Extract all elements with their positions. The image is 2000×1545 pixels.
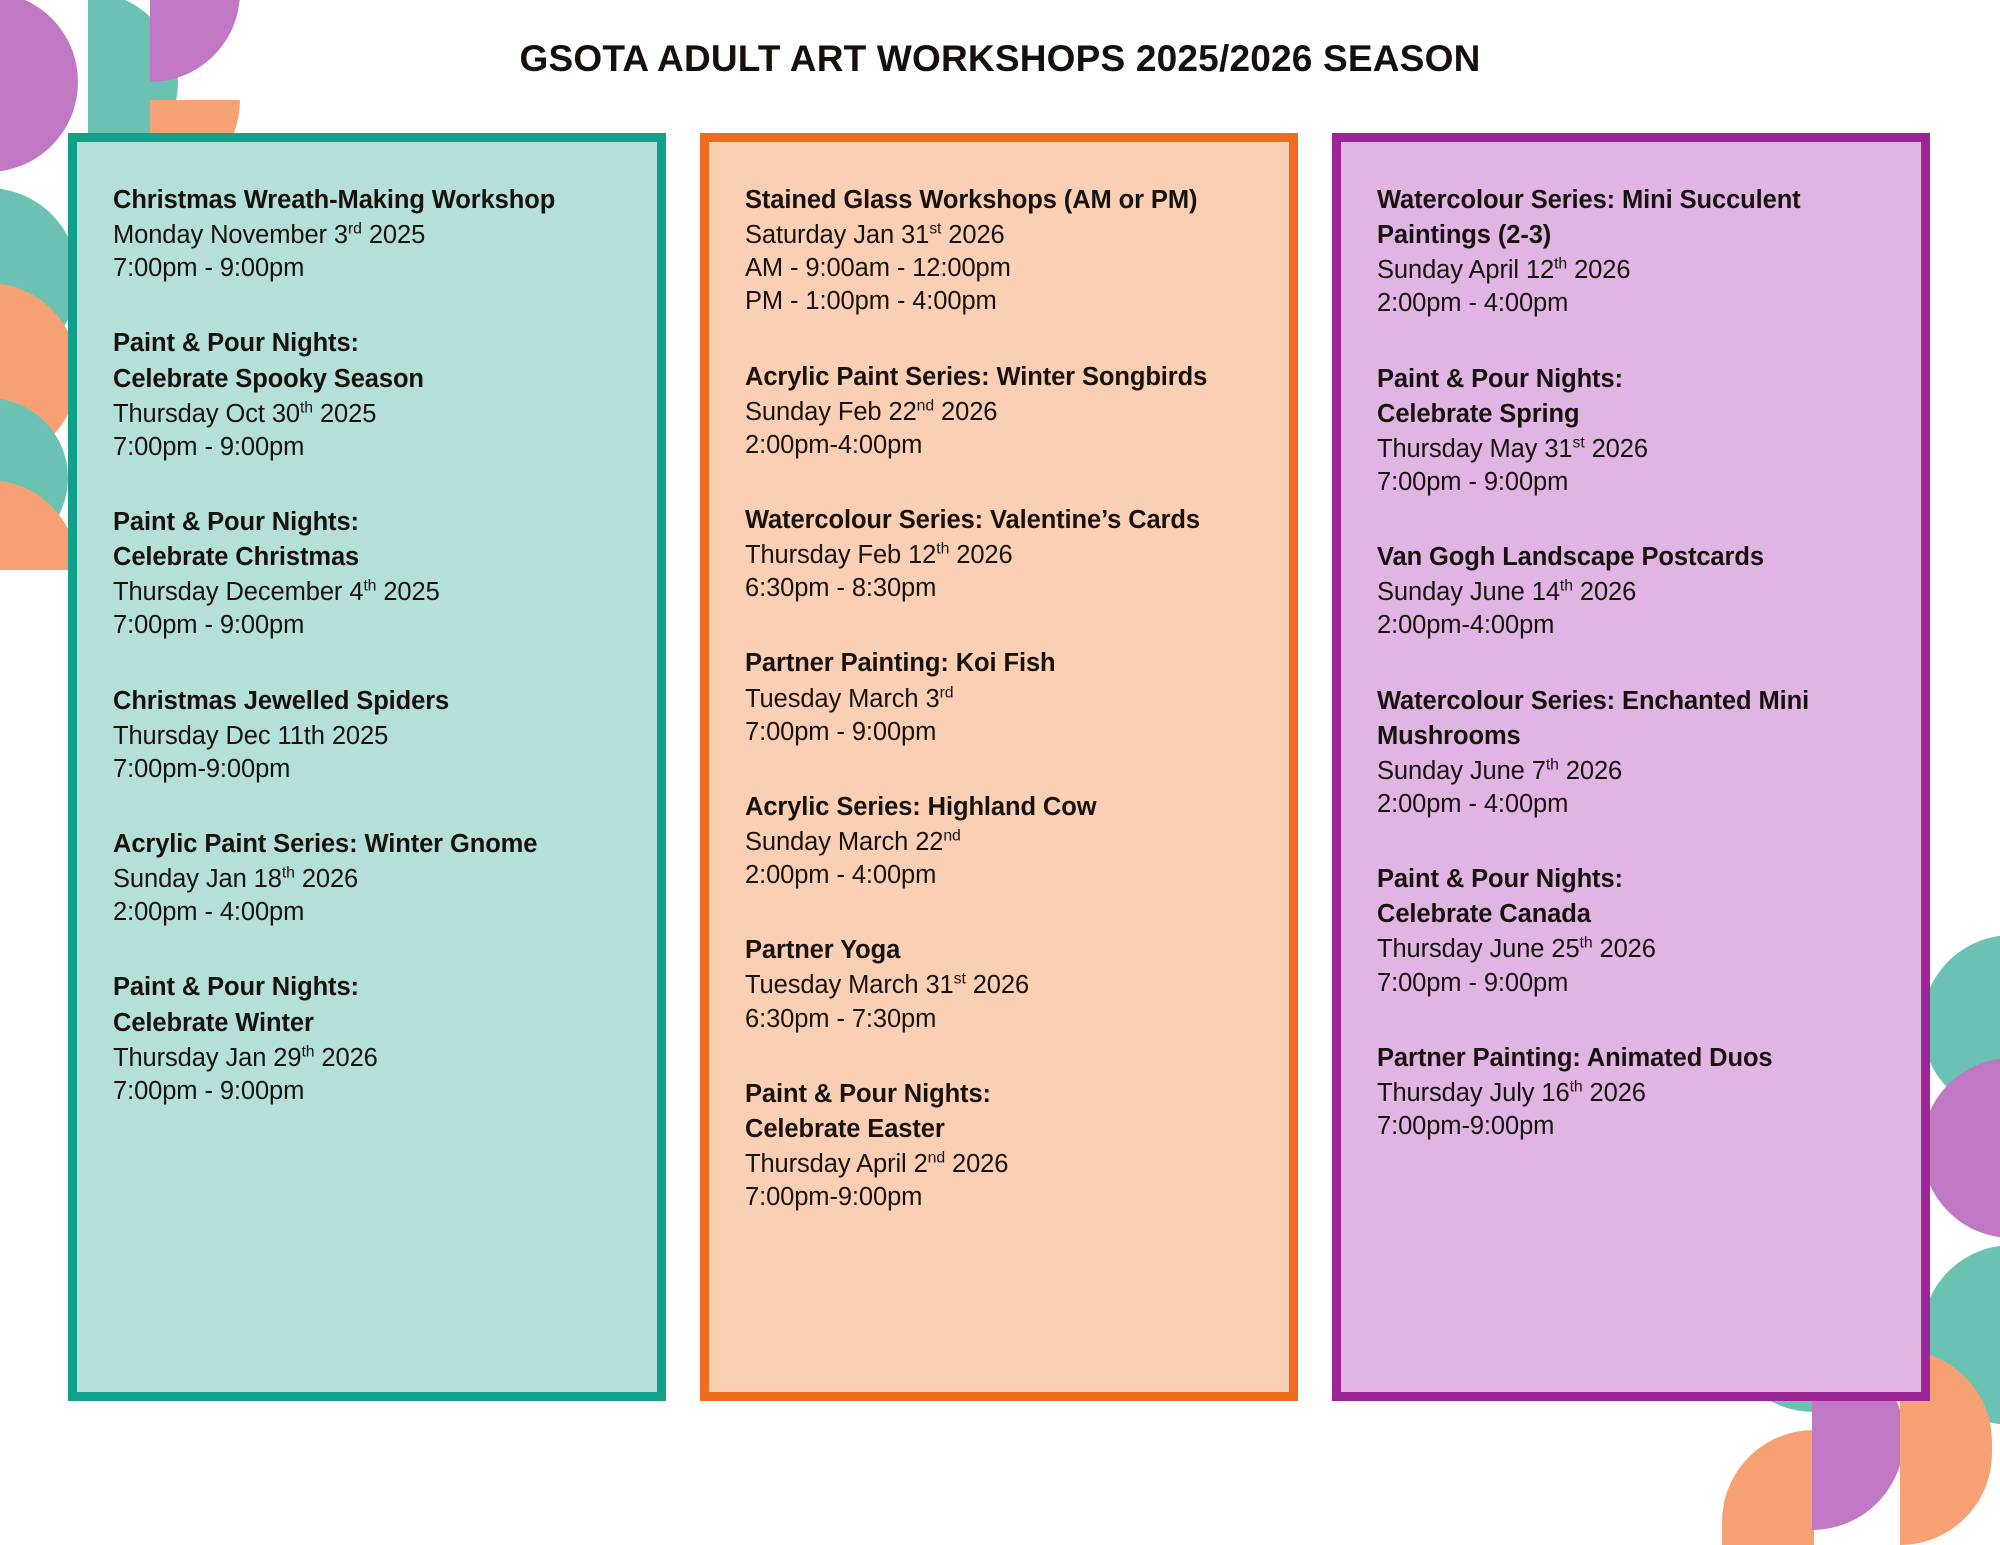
workshop-title: Van Gogh Landscape Postcards xyxy=(1377,541,1891,574)
deco-quarter-circle-peach xyxy=(0,480,78,570)
workshop-title: Paint & Pour Nights: xyxy=(113,971,627,1004)
workshop-entry: Paint & Pour Nights:Celebrate ChristmasT… xyxy=(113,506,627,643)
workshop-entry: Paint & Pour Nights:Celebrate WinterThur… xyxy=(113,971,627,1108)
workshop-time: PM - 1:00pm - 4:00pm xyxy=(745,285,1259,318)
date-ordinal-suffix: st xyxy=(1573,434,1585,451)
workshop-time: 7:00pm-9:00pm xyxy=(745,1181,1259,1214)
workshop-entry: Paint & Pour Nights:Celebrate CanadaThur… xyxy=(1377,863,1891,1000)
workshop-title: Partner Painting: Animated Duos xyxy=(1377,1042,1891,1075)
workshop-time: 2:00pm - 4:00pm xyxy=(113,896,627,929)
workshop-title: Acrylic Series: Highland Cow xyxy=(745,791,1259,824)
column-orange: Stained Glass Workshops (AM or PM)Saturd… xyxy=(700,133,1298,1401)
date-ordinal-suffix: th xyxy=(300,399,313,416)
workshop-title: Watercolour Series: Enchanted Mini xyxy=(1377,685,1891,718)
workshop-title: Partner Yoga xyxy=(745,934,1259,967)
workshop-time: 7:00pm - 9:00pm xyxy=(113,1075,627,1108)
workshop-entry: Partner Painting: Animated DuosThursday … xyxy=(1377,1042,1891,1143)
date-ordinal-suffix: rd xyxy=(940,684,954,701)
workshop-title: Watercolour Series: Mini Succulent xyxy=(1377,184,1891,217)
workshop-date: Thursday December 4th 2025 xyxy=(113,576,627,609)
workshop-entry: Paint & Pour Nights:Celebrate EasterThur… xyxy=(745,1078,1259,1215)
workshop-title: Partner Painting: Koi Fish xyxy=(745,647,1259,680)
workshop-time: 7:00pm - 9:00pm xyxy=(113,431,627,464)
workshop-title: Stained Glass Workshops (AM or PM) xyxy=(745,184,1259,217)
workshop-date: Thursday April 2nd 2026 xyxy=(745,1148,1259,1181)
deco-half-circle-teal xyxy=(0,188,78,368)
workshop-title: Celebrate Canada xyxy=(1377,898,1891,931)
workshop-date: Thursday Feb 12th 2026 xyxy=(745,539,1259,572)
deco-half-circle-purple xyxy=(1922,1058,2000,1238)
date-ordinal-suffix: th xyxy=(1554,256,1567,273)
workshop-date: Saturday Jan 31st 2026 xyxy=(745,219,1259,252)
workshop-columns: Christmas Wreath-Making WorkshopMonday N… xyxy=(68,133,1930,1401)
workshop-title: Paint & Pour Nights: xyxy=(745,1078,1259,1111)
workshop-time: 7:00pm-9:00pm xyxy=(113,753,627,786)
workshop-entry: Watercolour Series: Enchanted MiniMushro… xyxy=(1377,685,1891,822)
workshop-entry: Paint & Pour Nights:Celebrate SpringThur… xyxy=(1377,363,1891,500)
workshop-entry: Stained Glass Workshops (AM or PM)Saturd… xyxy=(745,184,1259,319)
date-ordinal-suffix: nd xyxy=(917,397,934,414)
workshop-entry: Partner Painting: Koi FishTuesday March … xyxy=(745,647,1259,748)
workshop-time: 7:00pm - 9:00pm xyxy=(1377,967,1891,1000)
date-ordinal-suffix: nd xyxy=(943,827,960,844)
workshop-date: Thursday July 16th 2026 xyxy=(1377,1077,1891,1110)
workshop-date: Thursday Dec 11th 2025 xyxy=(113,720,627,753)
workshop-time: 2:00pm-4:00pm xyxy=(1377,609,1891,642)
workshop-title: Paint & Pour Nights: xyxy=(113,327,627,360)
workshop-title: Celebrate Spring xyxy=(1377,398,1891,431)
workshop-title: Paint & Pour Nights: xyxy=(1377,863,1891,896)
workshop-title: Paint & Pour Nights: xyxy=(1377,363,1891,396)
date-ordinal-suffix: th xyxy=(282,865,295,882)
workshop-time: 2:00pm-4:00pm xyxy=(745,429,1259,462)
date-ordinal-suffix: th xyxy=(1570,1078,1583,1095)
workshop-entry: Watercolour Series: Mini SucculentPainti… xyxy=(1377,184,1891,321)
workshop-entry: Partner YogaTuesday March 31st 20266:30p… xyxy=(745,934,1259,1035)
workshop-entry: Christmas Jewelled SpidersThursday Dec 1… xyxy=(113,685,627,786)
workshop-date: Thursday Oct 30th 2025 xyxy=(113,398,627,431)
workshop-time: 6:30pm - 7:30pm xyxy=(745,1003,1259,1036)
workshop-entry: Acrylic Paint Series: Winter SongbirdsSu… xyxy=(745,361,1259,462)
workshop-title: Celebrate Easter xyxy=(745,1113,1259,1146)
workshop-date: Sunday March 22nd xyxy=(745,826,1259,859)
workshop-title: Celebrate Spooky Season xyxy=(113,363,627,396)
workshop-time: 7:00pm-9:00pm xyxy=(1377,1110,1891,1143)
date-ordinal-suffix: th xyxy=(1546,756,1559,773)
workshop-entry: Acrylic Paint Series: Winter GnomeSunday… xyxy=(113,828,627,929)
workshop-title: Watercolour Series: Valentine’s Cards xyxy=(745,504,1259,537)
date-ordinal-suffix: th xyxy=(1560,578,1573,595)
page-title: GSOTA ADULT ART WORKSHOPS 2025/2026 SEAS… xyxy=(0,38,2000,80)
date-ordinal-suffix: th xyxy=(936,541,949,558)
date-ordinal-suffix: th xyxy=(1580,935,1593,952)
deco-half-circle-teal xyxy=(1922,1245,2000,1425)
date-ordinal-suffix: st xyxy=(954,971,966,988)
workshop-date: Sunday June 7th 2026 xyxy=(1377,755,1891,788)
workshop-title: Celebrate Winter xyxy=(113,1007,627,1040)
deco-quarter-circle-peach xyxy=(1722,1430,1814,1545)
workshop-date: Sunday April 12th 2026 xyxy=(1377,254,1891,287)
workshop-date: Thursday June 25th 2026 xyxy=(1377,933,1891,966)
workshop-time: 2:00pm - 4:00pm xyxy=(1377,788,1891,821)
workshop-time: 7:00pm - 9:00pm xyxy=(745,716,1259,749)
workshop-title: Christmas Jewelled Spiders xyxy=(113,685,627,718)
workshop-date: Thursday May 31st 2026 xyxy=(1377,433,1891,466)
workshop-time: 2:00pm - 4:00pm xyxy=(745,859,1259,892)
date-ordinal-suffix: rd xyxy=(348,221,362,238)
workshop-date: Monday November 3rd 2025 xyxy=(113,219,627,252)
deco-half-circle-purple xyxy=(0,0,78,172)
workshop-date: Sunday June 14th 2026 xyxy=(1377,576,1891,609)
workshop-title: Acrylic Paint Series: Winter Gnome xyxy=(113,828,627,861)
date-ordinal-suffix: st xyxy=(929,221,941,238)
workshop-time: 7:00pm - 9:00pm xyxy=(1377,466,1891,499)
deco-half-circle-teal xyxy=(0,398,68,558)
column-purple: Watercolour Series: Mini SucculentPainti… xyxy=(1332,133,1930,1401)
workshop-title: Celebrate Christmas xyxy=(113,541,627,574)
workshop-title: Mushrooms xyxy=(1377,720,1891,753)
workshop-title: Paintings (2-3) xyxy=(1377,219,1891,252)
workshop-entry: Acrylic Series: Highland CowSunday March… xyxy=(745,791,1259,892)
workshop-entry: Van Gogh Landscape PostcardsSunday June … xyxy=(1377,541,1891,642)
date-ordinal-suffix: nd xyxy=(928,1149,945,1166)
deco-quarter-circle-peach xyxy=(0,283,78,373)
date-ordinal-suffix: th xyxy=(363,578,376,595)
workshop-title: Paint & Pour Nights: xyxy=(113,506,627,539)
workshop-title: Christmas Wreath-Making Workshop xyxy=(113,184,627,217)
workshop-title: Acrylic Paint Series: Winter Songbirds xyxy=(745,361,1259,394)
workshop-entry: Paint & Pour Nights:Celebrate Spooky Sea… xyxy=(113,327,627,464)
deco-half-circle-teal xyxy=(1922,935,2000,1115)
workshop-entry: Christmas Wreath-Making WorkshopMonday N… xyxy=(113,184,627,285)
column-teal: Christmas Wreath-Making WorkshopMonday N… xyxy=(68,133,666,1401)
workshop-entry: Watercolour Series: Valentine’s CardsThu… xyxy=(745,504,1259,605)
workshop-time: 7:00pm - 9:00pm xyxy=(113,609,627,642)
workshop-time: 2:00pm - 4:00pm xyxy=(1377,287,1891,320)
date-ordinal-suffix: th xyxy=(301,1043,314,1060)
workshop-time: 6:30pm - 8:30pm xyxy=(745,572,1259,605)
workshop-date: Thursday Jan 29th 2026 xyxy=(113,1042,627,1075)
workshop-time: AM - 9:00am - 12:00pm xyxy=(745,252,1259,285)
workshop-time: 7:00pm - 9:00pm xyxy=(113,252,627,285)
workshop-date: Tuesday March 3rd xyxy=(745,683,1259,716)
workshop-date: Sunday Feb 22nd 2026 xyxy=(745,396,1259,429)
deco-quarter-circle-peach xyxy=(0,373,78,463)
workshop-date: Tuesday March 31st 2026 xyxy=(745,969,1259,1002)
workshop-date: Sunday Jan 18th 2026 xyxy=(113,863,627,896)
